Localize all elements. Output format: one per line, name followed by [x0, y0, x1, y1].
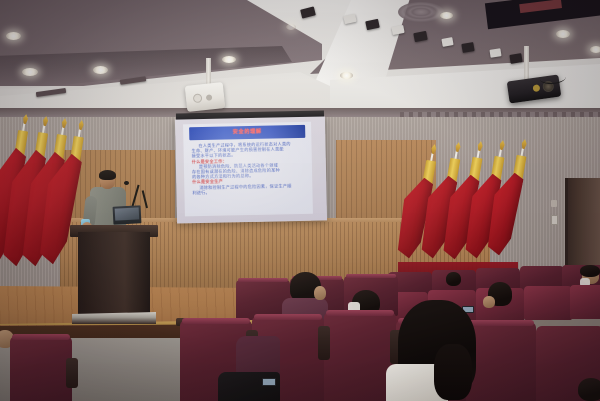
seat[interactable] — [570, 285, 600, 319]
projection-screen: 安全的理解 在人类生产过程中，将系统的运行状态对人类的 生命、财产、环境可能产生… — [175, 116, 327, 223]
downlight-icon — [286, 24, 296, 30]
seat-headrest — [238, 278, 288, 282]
downlight-icon — [93, 66, 108, 74]
white-ceiling-projector — [185, 82, 226, 112]
seat-headrest — [254, 314, 322, 320]
downlight-icon — [590, 46, 600, 53]
projector-lens-icon — [193, 93, 203, 103]
projector-knob-icon — [532, 84, 540, 92]
track-light-icon — [509, 53, 522, 64]
attendee-head — [578, 378, 600, 401]
attendee-face — [483, 296, 495, 308]
attendee-face — [314, 286, 326, 300]
auditorium-photo: 安全的理解 在人类生产过程中，将系统的运行状态对人类的 生命、财产、环境可能产生… — [0, 0, 600, 401]
seat-headrest — [468, 320, 534, 326]
laptop-screen — [115, 207, 140, 220]
slide-body: 在人类生产过程中，将系统的运行状态对人类的 生命、财产、环境可能产生的损害控制在… — [191, 141, 306, 195]
downlight-icon — [22, 68, 38, 76]
seat[interactable] — [524, 286, 572, 320]
presentation-slide: 安全的理解 在人类生产过程中，将系统的运行状态对人类的 生命、财产、环境可能产生… — [183, 122, 313, 217]
track-light-icon — [489, 48, 501, 58]
downlight-icon — [6, 32, 21, 40]
seat[interactable] — [10, 336, 72, 401]
seat-headrest — [182, 318, 250, 324]
presenter-laptop — [113, 205, 142, 224]
microphone-head-icon — [124, 181, 129, 185]
seat-headrest — [326, 310, 394, 316]
seat-armrest — [318, 326, 330, 360]
projector-mount-arm-right — [524, 46, 529, 82]
seat[interactable] — [466, 322, 536, 401]
downlight-icon — [440, 12, 453, 19]
presenter-hair — [99, 170, 116, 180]
wall-fixture — [551, 200, 557, 207]
seat-armrest — [66, 358, 78, 388]
slide-line: 利进行。 — [192, 188, 306, 196]
seat-headrest — [12, 334, 70, 340]
seat-headrest — [346, 274, 396, 278]
mobile-phone[interactable] — [262, 378, 276, 386]
attendee-leg — [218, 372, 280, 401]
downlight-icon — [222, 56, 236, 63]
slide-title-bar: 安全的理解 — [189, 125, 305, 140]
wooden-lectern — [78, 232, 150, 324]
light-switch[interactable] — [551, 215, 558, 225]
downlight-icon — [556, 30, 570, 38]
lectern-base — [72, 312, 156, 324]
slide-title: 安全的理解 — [189, 127, 305, 136]
projector-dial-icon — [206, 94, 213, 101]
attendee-hair — [580, 265, 600, 277]
attendee-hair — [434, 344, 472, 400]
wall-cornice-detail — [400, 112, 600, 117]
ceiling-speaker-icon — [398, 2, 444, 22]
attendee-head — [446, 272, 461, 286]
downlight-icon — [340, 72, 353, 79]
